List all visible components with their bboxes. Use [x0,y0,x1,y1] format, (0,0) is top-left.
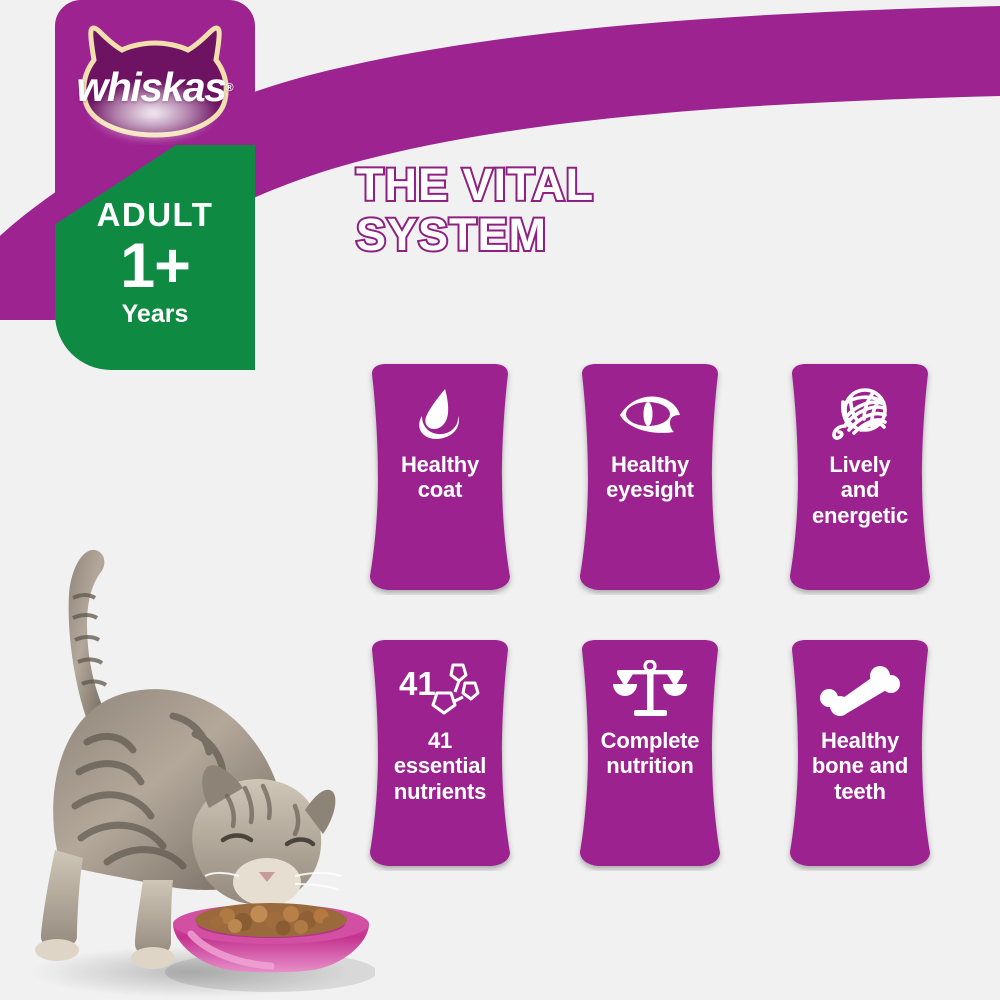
benefit-label: Healthy eyesight [606,452,694,503]
page-title: THE VITAL SYSTEM [356,160,826,261]
cat-front-leg-right [135,880,173,956]
infographic-canvas: whiskas® ADULT 1+ Years THE VITAL SYSTEM [0,0,1000,1000]
benefit-label: Complete nutrition [601,728,700,779]
nutrients-41-icon: 41 [397,660,483,722]
cat-tail [69,550,107,720]
benefit-label: Healthy coat [401,452,479,503]
cat-eye-icon [618,384,682,446]
age-badge-number: 1+ [120,235,190,298]
balance-scale-icon [611,660,689,722]
benefit-label: Lively and energetic [812,452,908,528]
benefit-card-healthy-coat[interactable]: Healthy coat [352,362,528,595]
kibble-pile [195,903,347,937]
cat-paw-right [131,947,175,969]
logo-wordmark-text: whiskas [76,64,225,111]
registered-mark: ® [225,82,233,94]
yarn-ball-icon [829,384,891,446]
age-badge-adult-label: ADULT [97,198,214,231]
logo-wordmark: whiskas® [60,20,250,145]
benefit-label: 41 essential nutrients [394,728,486,804]
cat-front-leg-left [41,850,83,948]
benefit-card-healthy-eyesight[interactable]: Healthy eyesight [562,362,738,595]
water-drop-icon [415,384,465,446]
whiskas-logo: whiskas® [60,20,250,145]
benefit-card-healthy-bone-and-teeth[interactable]: Healthy bone and teeth [772,638,948,871]
benefit-card-41-essential-nutrients[interactable]: 41 41 essential nutrients [352,638,528,871]
cat-eating-photo [0,520,375,1000]
age-badge: ADULT 1+ Years [55,145,255,370]
benefit-card-lively-and-energetic[interactable]: Lively and energetic [772,362,948,595]
age-badge-years-label: Years [122,302,189,327]
bone-icon [820,660,900,722]
svg-text:41: 41 [399,665,436,702]
benefit-label: Healthy bone and teeth [812,728,908,804]
cat-paw-left [35,939,79,961]
benefit-card-complete-nutrition[interactable]: Complete nutrition [562,638,738,871]
